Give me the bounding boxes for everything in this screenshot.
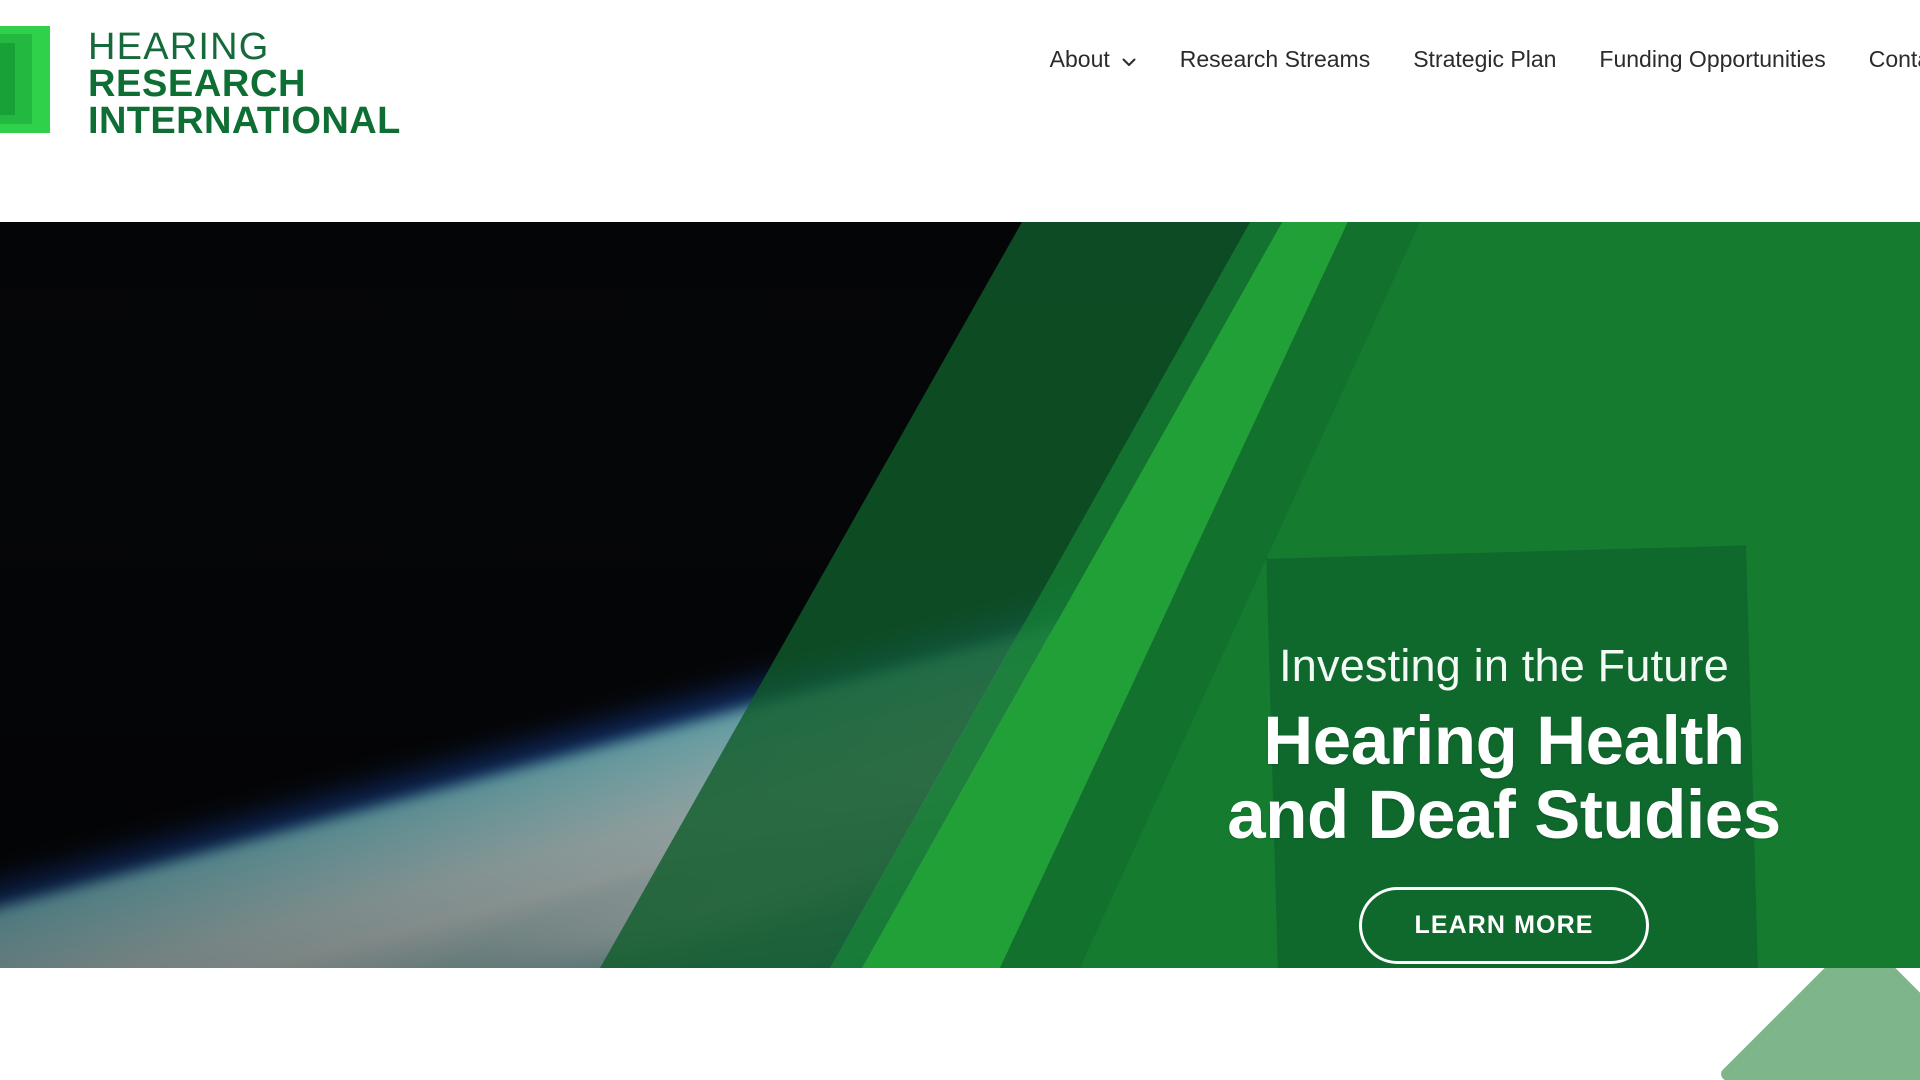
nav-item-label: Funding Opportunities — [1599, 46, 1825, 73]
nav-item-label: Strategic Plan — [1413, 46, 1556, 73]
nav-item-contact[interactable]: Contact — [1869, 46, 1920, 73]
hero-banner: Investing in the Future Hearing Health a… — [0, 222, 1920, 968]
learn-more-button[interactable]: LEARN MORE — [1359, 887, 1648, 964]
brand-wordmark: HEARING RESEARCH INTERNATIONAL — [88, 29, 401, 140]
brand-line-1: HEARING — [88, 29, 401, 66]
nav-item-label: Contact — [1869, 46, 1920, 73]
nav-item-label: About — [1050, 46, 1110, 73]
nav-item-label: Research Streams — [1180, 46, 1370, 73]
brand-line-3: INTERNATIONAL — [88, 103, 401, 140]
nav-item-funding-opportunities[interactable]: Funding Opportunities — [1599, 46, 1825, 73]
nav-item-research-streams[interactable]: Research Streams — [1180, 46, 1370, 73]
nested-squares-logo-icon — [0, 26, 50, 133]
hero-headline: Hearing Health and Deaf Studies — [1134, 704, 1874, 853]
hero-headline-line-1: Hearing Health — [1134, 704, 1874, 779]
below-hero-section — [0, 968, 1920, 1080]
chevron-left-decoration-icon — [1719, 968, 1920, 1080]
nav-item-strategic-plan[interactable]: Strategic Plan — [1413, 46, 1556, 73]
chevron-down-icon[interactable] — [1121, 54, 1137, 70]
hero-content: Investing in the Future Hearing Health a… — [1134, 640, 1874, 964]
main-navigation: About Research Streams Strategic Plan Fu… — [1050, 46, 1920, 73]
site-header: HEARING RESEARCH INTERNATIONAL About Res… — [0, 0, 1920, 222]
brand-line-2: RESEARCH — [88, 66, 401, 103]
nav-item-about[interactable]: About — [1050, 46, 1137, 73]
hero-headline-line-2: and Deaf Studies — [1134, 778, 1874, 853]
hero-eyebrow: Investing in the Future — [1134, 640, 1874, 692]
